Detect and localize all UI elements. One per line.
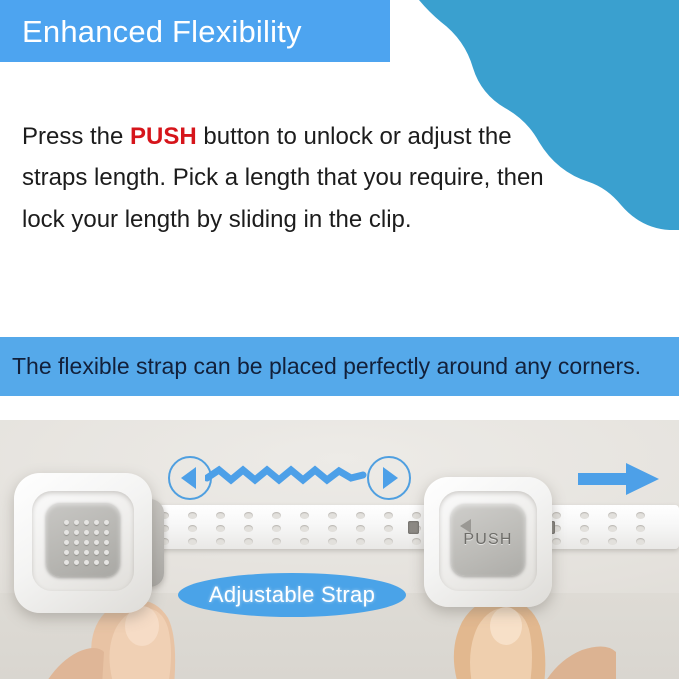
pad-dot	[104, 530, 109, 535]
strap-hole	[300, 525, 309, 532]
product-infographic: Enhanced Flexibility Press the PUSH butt…	[0, 0, 679, 679]
strap-hole	[328, 512, 337, 519]
strap-hole	[552, 538, 561, 545]
lock-inner-right: PUSH	[439, 491, 537, 591]
caption-text: The flexible strap can be placed perfect…	[0, 355, 641, 378]
pad-dot	[74, 550, 79, 555]
strap-hole	[384, 525, 393, 532]
chevron-left-glyph	[181, 467, 196, 489]
pad-dot	[64, 560, 69, 565]
strap-hole	[216, 512, 225, 519]
strap-hole	[188, 512, 197, 519]
strap-hole	[188, 525, 197, 532]
pad-dot	[84, 550, 89, 555]
adjustable-strap	[150, 505, 679, 549]
pad-dot	[64, 540, 69, 545]
strap-hole	[412, 538, 421, 545]
strap-hole	[384, 512, 393, 519]
pad-dot	[84, 530, 89, 535]
strap-hole	[272, 512, 281, 519]
strap-hole	[356, 512, 365, 519]
instruction-paragraph: Press the PUSH button to unlock or adjus…	[22, 116, 582, 240]
pad-dot	[74, 540, 79, 545]
pad-dot	[74, 530, 79, 535]
page-title: Enhanced Flexibility	[0, 16, 302, 47]
strap-hole	[384, 538, 393, 545]
strap-hole	[608, 538, 617, 545]
pad-dot	[104, 560, 109, 565]
pad-dot	[94, 560, 99, 565]
strap-hole	[552, 512, 561, 519]
lock-body-left	[14, 473, 152, 613]
pad-dot	[94, 540, 99, 545]
lock-body-right: PUSH	[424, 477, 552, 607]
strap-hole	[188, 538, 197, 545]
pad-dot	[84, 520, 89, 525]
strap-hole	[300, 538, 309, 545]
pad-dot	[64, 550, 69, 555]
pad-dot	[94, 530, 99, 535]
pad-dot	[94, 550, 99, 555]
strap-hole	[608, 525, 617, 532]
pad-dot	[104, 550, 109, 555]
strap-hole	[356, 538, 365, 545]
push-button-label: PUSH	[451, 504, 525, 576]
strap-hole	[412, 512, 421, 519]
lock-inner-left	[32, 491, 134, 591]
strap-hole	[328, 525, 337, 532]
pad-dot-grid	[46, 503, 120, 577]
adjustable-strap-badge-label: Adjustable Strap	[209, 582, 375, 608]
zigzag-wave-icon	[205, 462, 367, 490]
strap-hole	[328, 538, 337, 545]
triangle-left-icon	[460, 519, 471, 533]
strap-hole	[636, 525, 645, 532]
strap-hole	[608, 512, 617, 519]
textured-pad-left	[46, 503, 120, 577]
strap-hole	[272, 538, 281, 545]
chevron-right-glyph	[383, 467, 398, 489]
instruction-text-before: Press the	[22, 123, 130, 150]
pad-dot	[104, 540, 109, 545]
strap-hole	[300, 512, 309, 519]
strap-slot	[408, 521, 419, 534]
pad-dot	[74, 560, 79, 565]
strap-hole	[244, 512, 253, 519]
strap-hole	[244, 525, 253, 532]
pad-dot	[64, 530, 69, 535]
pad-dot	[94, 520, 99, 525]
strap-hole	[216, 525, 225, 532]
pad-dot	[74, 520, 79, 525]
push-highlight: PUSH	[130, 123, 197, 150]
strap-hole	[580, 512, 589, 519]
strap-hole	[580, 538, 589, 545]
strap-hole	[356, 525, 365, 532]
strap-hole	[244, 538, 253, 545]
chevron-right-icon	[367, 456, 411, 500]
pad-dot	[64, 520, 69, 525]
strap-hole	[580, 525, 589, 532]
pad-dot	[84, 560, 89, 565]
strap-hole-pattern	[150, 505, 679, 549]
header-banner: Enhanced Flexibility	[0, 0, 390, 62]
strap-hole	[216, 538, 225, 545]
adjustable-strap-badge: Adjustable Strap	[178, 573, 406, 617]
pad-dot	[104, 520, 109, 525]
strap-hole	[272, 525, 281, 532]
strap-hole	[636, 538, 645, 545]
pad-dot	[84, 540, 89, 545]
strap-hole	[636, 512, 645, 519]
push-button[interactable]: PUSH	[451, 504, 525, 576]
caption-strip: The flexible strap can be placed perfect…	[0, 337, 679, 396]
arrow-right-icon	[578, 462, 660, 496]
